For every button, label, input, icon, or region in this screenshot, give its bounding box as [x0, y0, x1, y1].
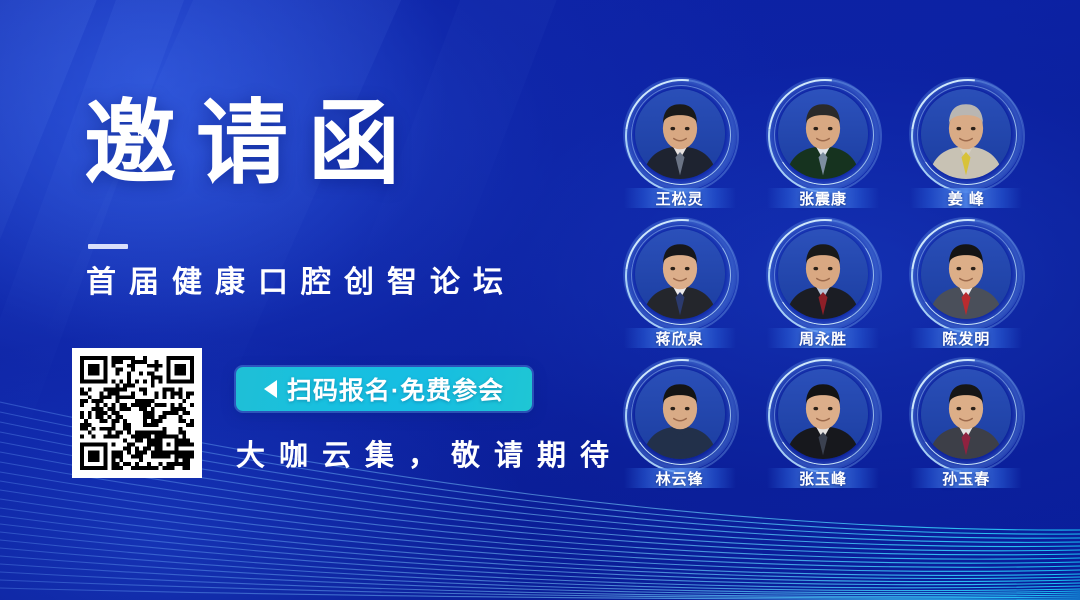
speaker-name-bar: 周永胜 — [767, 328, 879, 348]
speaker-name-bar: 陈发明 — [910, 328, 1022, 348]
speaker-name-bar: 王松灵 — [624, 188, 736, 208]
speaker-grid: 王松灵 张震康 — [608, 84, 1038, 504]
speaker-name: 林云锋 — [656, 468, 704, 489]
scan-to-register-label: 扫码报名·免费参会 — [287, 371, 504, 407]
speaker-card[interactable]: 姜 峰 — [895, 84, 1038, 224]
avatar-ring — [775, 86, 871, 182]
speaker-name: 周永胜 — [799, 328, 847, 349]
avatar-ring — [632, 86, 728, 182]
speaker-card[interactable]: 张玉峰 — [751, 364, 894, 504]
left-arrow-icon — [264, 380, 277, 398]
avatar-ring — [918, 86, 1014, 182]
speaker-name-bar: 张震康 — [767, 188, 879, 208]
speaker-card[interactable]: 王松灵 — [608, 84, 751, 224]
title-divider — [88, 244, 128, 249]
speaker-name-bar: 林云锋 — [624, 468, 736, 488]
speaker-card[interactable]: 孙玉春 — [895, 364, 1038, 504]
avatar-ring — [632, 366, 728, 462]
speaker-name: 陈发明 — [942, 328, 990, 349]
speaker-card[interactable]: 陈发明 — [895, 224, 1038, 364]
left-content-column: 邀请函 首届健康口腔创智论坛 扫码报名·免费参会 大咖云集，敬请期待 — [0, 0, 600, 600]
speaker-name: 孙玉春 — [942, 468, 990, 489]
speaker-card[interactable]: 蒋欣泉 — [608, 224, 751, 364]
page-title: 邀请函 — [84, 98, 420, 190]
speaker-name: 张震康 — [799, 188, 847, 209]
speaker-name: 蒋欣泉 — [656, 328, 704, 349]
speaker-card[interactable]: 周永胜 — [751, 224, 894, 364]
speaker-name-bar: 蒋欣泉 — [624, 328, 736, 348]
avatar-ring — [775, 226, 871, 322]
qr-code[interactable] — [72, 348, 202, 478]
avatar-ring — [632, 226, 728, 322]
speaker-name-bar: 张玉峰 — [767, 468, 879, 488]
speaker-card[interactable]: 张震康 — [751, 84, 894, 224]
scan-to-register-button[interactable]: 扫码报名·免费参会 — [236, 367, 532, 411]
avatar-ring — [918, 226, 1014, 322]
page-subtitle: 首届健康口腔创智论坛 — [86, 268, 516, 298]
speaker-name: 张玉峰 — [799, 468, 847, 489]
speaker-name: 王松灵 — [656, 188, 704, 209]
speaker-name: 姜 峰 — [948, 188, 985, 209]
speaker-name-bar: 孙玉春 — [910, 468, 1022, 488]
invitation-poster: 邀请函 首届健康口腔创智论坛 扫码报名·免费参会 大咖云集，敬请期待 — [0, 0, 1080, 600]
speaker-card[interactable]: 林云锋 — [608, 364, 751, 504]
avatar-ring — [775, 366, 871, 462]
tagline-text: 大咖云集，敬请期待 — [236, 432, 623, 474]
avatar-ring — [918, 366, 1014, 462]
qr-code-image — [72, 348, 202, 478]
speaker-name-bar: 姜 峰 — [910, 188, 1022, 208]
